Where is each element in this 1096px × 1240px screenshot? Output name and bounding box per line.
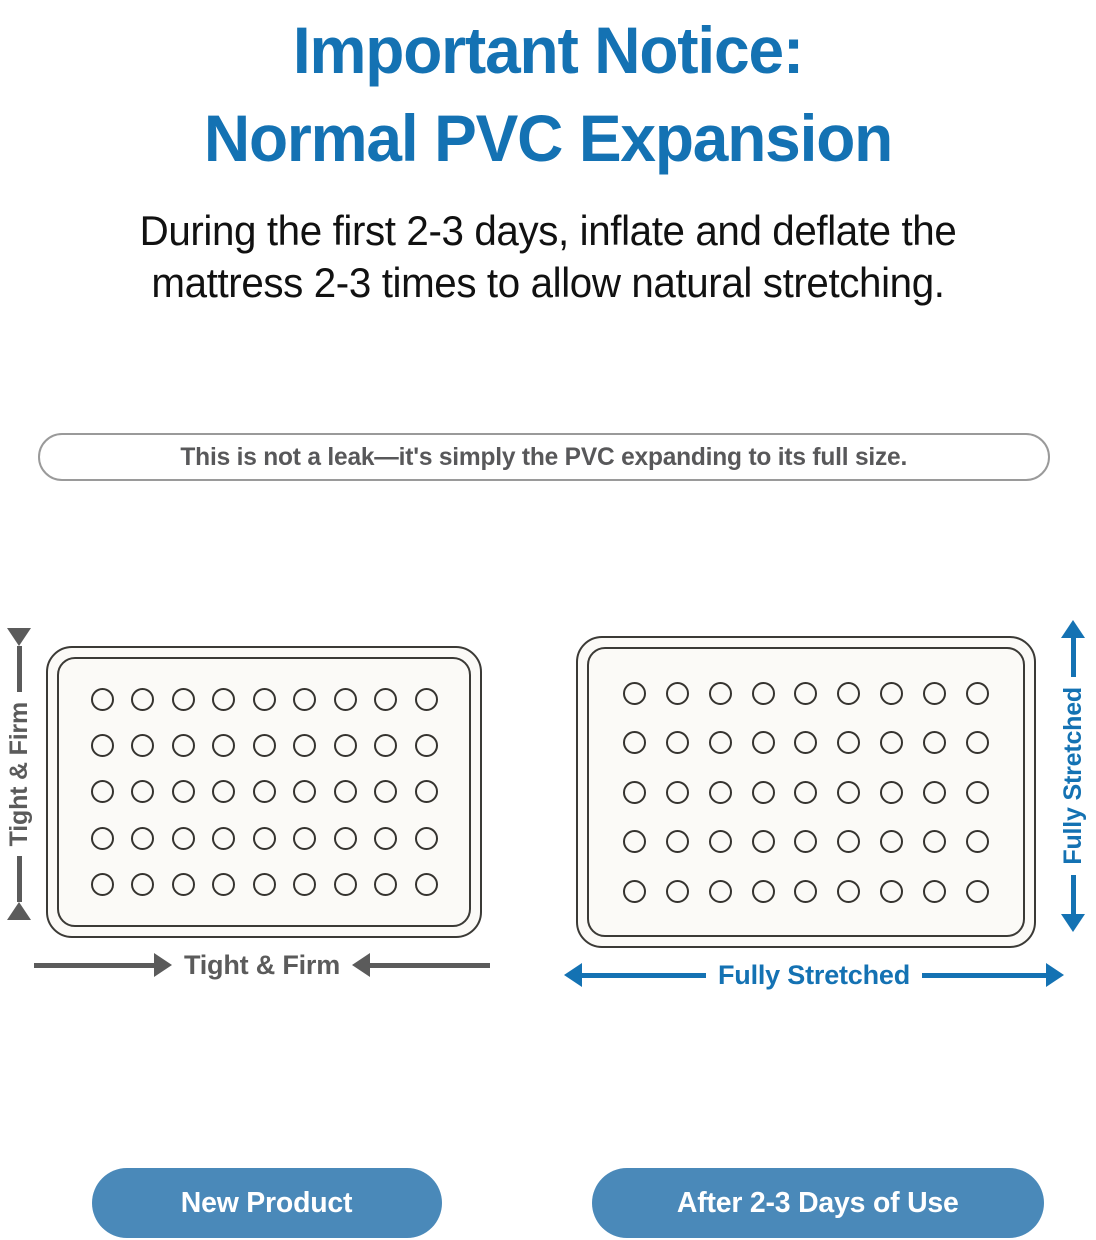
mattress-dot — [253, 688, 276, 711]
mattress-dot — [91, 827, 114, 850]
dimension-bar — [582, 973, 706, 978]
mattress-dot — [172, 688, 195, 711]
page-subtitle-line-2: mattress 2-3 times to allow natural stre… — [22, 257, 1074, 309]
dimension-bar — [17, 646, 22, 692]
mattress-dot — [374, 734, 397, 757]
mattress-dot — [794, 781, 817, 804]
dimension-bar — [17, 856, 22, 902]
mattress-dot-grid — [589, 649, 1023, 935]
mattress-dot-row — [73, 688, 455, 711]
mattress-dot — [752, 830, 775, 853]
dimension-bar — [922, 973, 1046, 978]
mattress-dot — [837, 731, 860, 754]
mattress-dot-row — [603, 880, 1009, 903]
mattress-dot — [794, 682, 817, 705]
mattress-dot — [334, 734, 357, 757]
horizontal-dimension-label: Fully Stretched — [706, 960, 922, 991]
mattress-dot — [623, 830, 646, 853]
mattress-dot — [172, 827, 195, 850]
mattress-dot — [334, 688, 357, 711]
mattress-dot — [212, 780, 235, 803]
mattress-dot — [293, 827, 316, 850]
mattress-dot — [752, 682, 775, 705]
mattress-dot — [334, 780, 357, 803]
mattress-dot — [923, 880, 946, 903]
mattress-dot — [212, 688, 235, 711]
diagram-panel-new-product: Tight & Firm — [0, 600, 520, 1020]
page-subtitle: During the first 2-3 days, inflate and d… — [0, 205, 1096, 309]
mattress-dot — [666, 781, 689, 804]
arrow-left-icon — [564, 963, 582, 987]
mattress-dot — [253, 873, 276, 896]
mattress-dot — [709, 731, 732, 754]
mattress-dot — [794, 830, 817, 853]
mattress-dot — [131, 780, 154, 803]
mattress-dot — [374, 780, 397, 803]
arrow-right-icon — [154, 953, 172, 977]
mattress-dot — [374, 688, 397, 711]
mattress-dot — [415, 873, 438, 896]
callout-pill-text: This is not a leak—it's simply the PVC e… — [181, 443, 908, 472]
mattress-dot — [212, 734, 235, 757]
mattress-dot — [131, 688, 154, 711]
vertical-dimension-label: Fully Stretched — [1059, 677, 1088, 875]
mattress-dot — [253, 780, 276, 803]
mattress-dot — [966, 830, 989, 853]
arrow-up-icon — [7, 902, 31, 920]
mattress-dot-row — [73, 873, 455, 896]
horizontal-dimension-fully-stretched: Fully Stretched — [564, 958, 1064, 992]
dimension-bar — [370, 963, 490, 968]
mattress-dot — [837, 880, 860, 903]
mattress-dot — [923, 830, 946, 853]
mattress-dot — [666, 830, 689, 853]
vertical-dimension-label: Tight & Firm — [5, 692, 34, 856]
mattress-dot — [923, 731, 946, 754]
mattress-dot-row — [73, 827, 455, 850]
mattress-dot — [253, 827, 276, 850]
mattress-dot — [212, 827, 235, 850]
mattress-dot — [923, 781, 946, 804]
mattress-dot — [91, 688, 114, 711]
mattress-dot — [752, 880, 775, 903]
mattress-dot — [623, 682, 646, 705]
vertical-dimension-fully-stretched: Fully Stretched — [1056, 620, 1090, 932]
arrow-up-icon — [1061, 620, 1085, 638]
mattress-dot — [794, 880, 817, 903]
callout-pill: This is not a leak—it's simply the PVC e… — [38, 433, 1050, 481]
mattress-dot — [623, 880, 646, 903]
page-title: Important Notice: Normal PVC Expansion — [0, 6, 1096, 182]
mattress-dot — [880, 830, 903, 853]
mattress-dot — [794, 731, 817, 754]
new-product-button[interactable]: New Product — [92, 1168, 442, 1238]
mattress-dot — [837, 830, 860, 853]
mattress-inner-border — [57, 657, 471, 927]
dimension-bar — [1071, 875, 1076, 914]
mattress-dot — [709, 781, 732, 804]
diagram-panel-after-use: Fully Stretched — [556, 600, 1096, 1020]
mattress-dot — [334, 873, 357, 896]
mattress-dot — [709, 880, 732, 903]
after-use-button-label: After 2-3 Days of Use — [677, 1187, 959, 1220]
mattress-dot — [415, 827, 438, 850]
mattress-dot — [623, 731, 646, 754]
mattress-dot — [966, 781, 989, 804]
mattress-dot — [131, 873, 154, 896]
mattress-dot-grid — [59, 659, 469, 925]
page-title-line-2: Normal PVC Expansion — [16, 94, 1079, 182]
horizontal-dimension-tight-firm: Tight & Firm — [34, 948, 490, 982]
mattress-dot — [131, 827, 154, 850]
mattress-dot — [880, 880, 903, 903]
mattress-dot — [966, 880, 989, 903]
mattress-dot-row — [603, 682, 1009, 705]
mattress-dot — [880, 731, 903, 754]
mattress-dot — [172, 734, 195, 757]
mattress-dot-row — [603, 781, 1009, 804]
comparison-diagram: Tight & Firm — [0, 600, 1096, 1020]
mattress-dot — [91, 780, 114, 803]
arrow-left-icon — [352, 953, 370, 977]
mattress-dot — [837, 781, 860, 804]
mattress-dot — [923, 682, 946, 705]
mattress-dot — [880, 682, 903, 705]
vertical-dimension-tight-firm: Tight & Firm — [2, 628, 36, 920]
page-title-line-1: Important Notice: — [16, 6, 1079, 94]
new-product-button-label: New Product — [181, 1187, 353, 1220]
mattress-dot — [293, 873, 316, 896]
mattress-dot-row — [603, 830, 1009, 853]
mattress-dot — [212, 873, 235, 896]
dimension-bar — [1071, 638, 1076, 677]
mattress-dot — [709, 682, 732, 705]
mattress-dot — [966, 682, 989, 705]
mattress-illustration-stretched — [576, 636, 1036, 948]
page-subtitle-line-1: During the first 2-3 days, inflate and d… — [22, 205, 1074, 257]
mattress-dot — [709, 830, 732, 853]
mattress-dot — [966, 731, 989, 754]
horizontal-dimension-label: Tight & Firm — [172, 950, 352, 981]
mattress-dot — [374, 873, 397, 896]
mattress-dot — [837, 682, 860, 705]
mattress-dot — [374, 827, 397, 850]
mattress-dot — [91, 873, 114, 896]
mattress-dot — [131, 734, 154, 757]
mattress-inner-border — [587, 647, 1025, 937]
mattress-dot — [293, 688, 316, 711]
mattress-dot — [253, 734, 276, 757]
mattress-dot — [415, 688, 438, 711]
mattress-dot — [172, 780, 195, 803]
mattress-dot — [623, 781, 646, 804]
mattress-dot — [334, 827, 357, 850]
mattress-dot — [293, 734, 316, 757]
mattress-dot — [172, 873, 195, 896]
arrow-right-icon — [1046, 963, 1064, 987]
mattress-dot — [752, 781, 775, 804]
mattress-dot — [666, 682, 689, 705]
dimension-bar — [34, 963, 154, 968]
mattress-dot — [415, 780, 438, 803]
mattress-dot — [91, 734, 114, 757]
mattress-illustration-new — [46, 646, 482, 938]
after-use-button[interactable]: After 2-3 Days of Use — [592, 1168, 1044, 1238]
mattress-dot — [666, 731, 689, 754]
mattress-dot-row — [603, 731, 1009, 754]
arrow-down-icon — [1061, 914, 1085, 932]
mattress-dot-row — [73, 734, 455, 757]
mattress-dot — [880, 781, 903, 804]
mattress-dot — [666, 880, 689, 903]
mattress-dot — [415, 734, 438, 757]
mattress-dot — [752, 731, 775, 754]
arrow-down-icon — [7, 628, 31, 646]
mattress-dot — [293, 780, 316, 803]
mattress-dot-row — [73, 780, 455, 803]
